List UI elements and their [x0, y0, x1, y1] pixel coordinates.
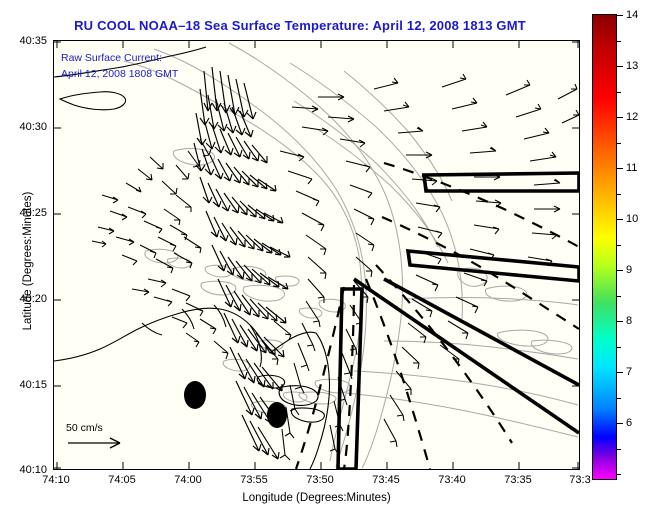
colorbar-minor-tick [617, 296, 621, 297]
annotation-current-timestamp: April 12, 2008 1808 GMT [61, 68, 178, 80]
colorbar-minor-tick [617, 194, 621, 195]
xtick-label: 73:3 [569, 474, 590, 486]
colorbar-tick-label: 11 [626, 162, 637, 174]
colorbar-tick [617, 66, 623, 67]
temperature-colorbar[interactable] [592, 14, 617, 480]
station-marker-west[interactable] [184, 381, 206, 409]
figure-title: RU COOL NOAA–18 Sea Surface Temperature:… [0, 18, 600, 33]
shipping-lane-polygons [338, 173, 579, 469]
ytick-label: 40:10 [0, 464, 47, 476]
colorbar-minor-tick [617, 143, 621, 144]
colorbar-minor-tick [617, 398, 621, 399]
colorbar-tick-label: 9 [626, 264, 632, 276]
arrow-right-icon [64, 434, 134, 450]
station-marker-east[interactable] [267, 402, 287, 428]
ytick-label: 40:30 [0, 121, 47, 133]
colorbar-tick [617, 372, 623, 373]
colorbar-tick [617, 423, 623, 424]
colorbar-tick-label: 13 [626, 60, 638, 72]
colorbar-minor-tick [617, 474, 621, 475]
xtick-label: 73:35 [504, 474, 532, 486]
colorbar-tick [617, 321, 623, 322]
colorbar-tick-label: 8 [626, 315, 632, 327]
ytick-label: 40:35 [0, 35, 47, 47]
annotation-raw-surface-current: Raw Surface Current: [61, 52, 162, 64]
xtick-label: 74:05 [108, 474, 136, 486]
colorbar-minor-tick [617, 92, 621, 93]
colorbar-tick-label: 14 [626, 9, 638, 21]
y-axis-label: Latitude (Degrees:Minutes) [22, 161, 34, 361]
xtick-label: 73:55 [240, 474, 268, 486]
xtick-label: 73:40 [438, 474, 466, 486]
colorbar-minor-tick [617, 347, 621, 348]
colorbar-tick-label: 6 [626, 417, 632, 429]
colorbar-tick-label: 7 [626, 366, 632, 378]
x-axis-label: Longitude (Degrees:Minutes) [53, 492, 580, 504]
xtick-label: 73:50 [306, 474, 334, 486]
xtick-label: 74:00 [174, 474, 202, 486]
colorbar-tick-label: 10 [626, 213, 638, 225]
xtick-label: 74:10 [42, 474, 70, 486]
colorbar-minor-tick [617, 41, 621, 42]
vector-scale-key: 50 cm/s [64, 422, 134, 455]
map-graphics [54, 41, 579, 469]
ytick-label: 40:15 [0, 379, 47, 391]
colorbar-tick [617, 117, 623, 118]
colorbar-tick [617, 270, 623, 271]
colorbar-minor-tick [617, 449, 621, 450]
surface-current-vectors [92, 67, 579, 460]
colorbar-tick [617, 168, 623, 169]
map-plot-area[interactable]: Raw Surface Current: April 12, 2008 1808… [53, 40, 580, 470]
colorbar-tick [617, 219, 623, 220]
colorbar-minor-tick [617, 245, 621, 246]
xtick-label: 73:45 [372, 474, 400, 486]
vector-scale-label: 50 cm/s [66, 422, 134, 434]
colorbar-tick [617, 15, 623, 16]
figure-container: RU COOL NOAA–18 Sea Surface Temperature:… [0, 0, 651, 519]
colorbar-tick-label: 12 [626, 111, 638, 123]
